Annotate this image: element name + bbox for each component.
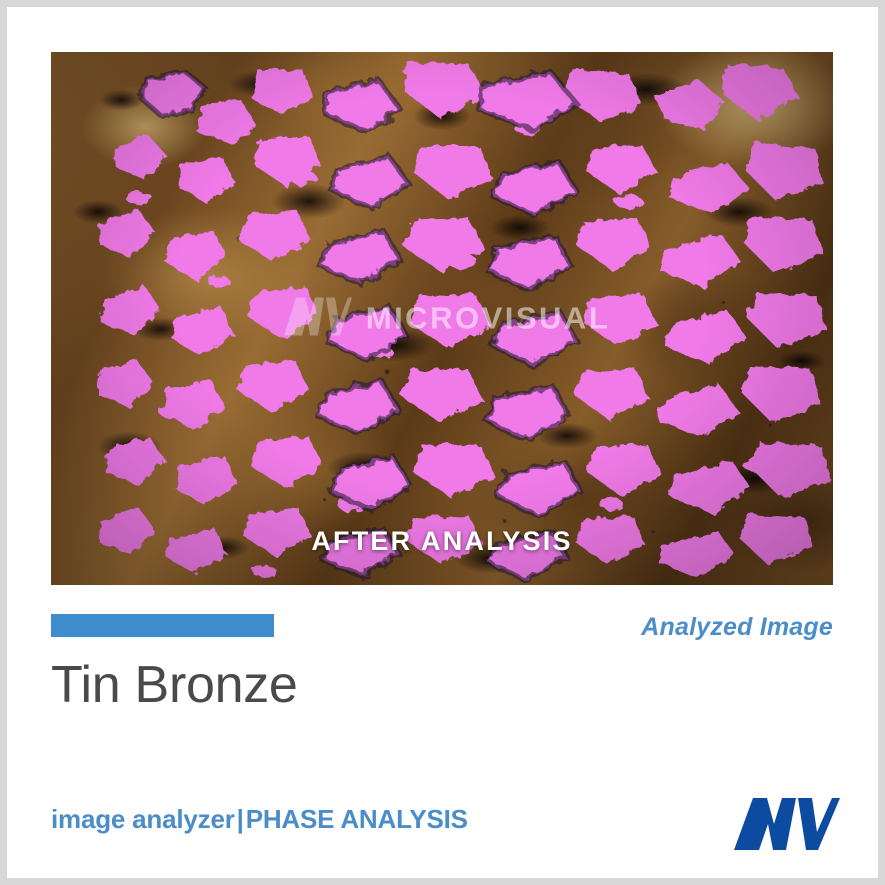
footer-secondary-label: PHASE ANALYSIS: [246, 804, 468, 834]
phase-segmentation-overlay: [51, 52, 833, 585]
footer-separator: |: [235, 804, 246, 834]
report-card: MICROVISUAL AFTER ANALYSIS Analyzed Imag…: [7, 7, 878, 878]
accent-bar: [51, 614, 274, 637]
micrograph-panel[interactable]: MICROVISUAL AFTER ANALYSIS: [51, 52, 833, 585]
footer-primary-label: image analyzer: [51, 804, 235, 834]
page-title: Tin Bronze: [51, 655, 298, 715]
mv-logo-icon: [720, 796, 840, 852]
footer-caption: image analyzer|PHASE ANALYSIS: [51, 804, 468, 835]
analyzed-image-label: Analyzed Image: [641, 613, 833, 642]
